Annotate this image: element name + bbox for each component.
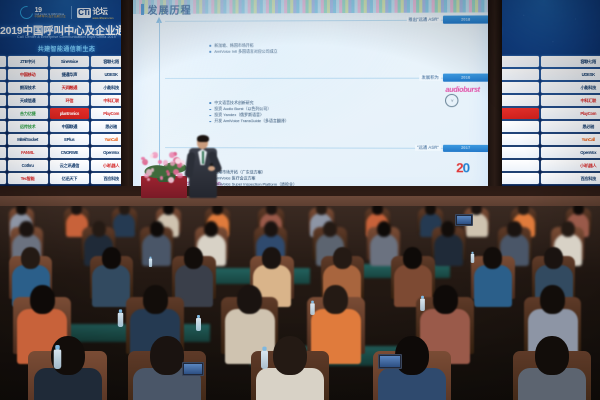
sponsor-logo: 中国移动 — [8, 69, 48, 80]
timeline-bullet: AmiVoice Intl 多国语言对应公司成立 — [209, 48, 432, 55]
sponsor-logo: SineVoice — [50, 56, 90, 67]
sponsor-logo: ZTE中兴 — [8, 56, 48, 67]
audience-member-head — [403, 247, 422, 269]
sponsor-logo: 亿迅天下 — [50, 173, 90, 184]
audience-member-head — [262, 247, 281, 269]
cti-url: www.ctiforum.com — [92, 17, 113, 20]
audience-member-head — [535, 336, 569, 375]
flower-arrangement — [140, 152, 192, 184]
water-bottle — [310, 303, 315, 315]
audience-member-head — [507, 221, 521, 238]
audience-member-head — [150, 336, 184, 375]
slide-title: 发展历程 — [148, 2, 192, 17]
sponsor-logo: Yealink — [0, 134, 6, 145]
timeline-bullet-list: 新加坡、韩国市场开拓AmiVoice Intl 多国语言对应公司成立 — [169, 42, 433, 55]
backdrop-wall-right: 19 Call Center & CRM China 中国呼叫中心及企业通信大会… — [488, 0, 600, 190]
timeline-illustration — [437, 26, 488, 53]
sponsor-logo: 容联七陌 — [541, 56, 600, 67]
audience-member-head — [333, 247, 352, 269]
flower — [160, 176, 163, 179]
audience-member-head — [433, 285, 458, 314]
slide-title-group: 发展历程 — [141, 2, 192, 17]
backdrop-logo-row-left: 19 Call Center & CRM China 中国呼叫中心及企业通信大会… — [0, 3, 133, 22]
timeline-row-body: 新加坡、韩国市场开拓AmiVoice Intl 多国语言对应公司成立 — [165, 24, 488, 73]
backdrop-wall-left: 19 Call Center & CRM China 中国呼叫中心及企业通信大会… — [0, 0, 133, 190]
audience-member-body — [474, 265, 512, 307]
sponsor-logo: PlayCom — [541, 108, 600, 119]
timeline-year-badge: 2018 — [443, 16, 488, 24]
audience-member-head — [323, 285, 348, 314]
sponsor-logo: 中科汇联 — [541, 95, 600, 106]
timeline-bullet: 开发 AmiVoice TransGuide（多语言翻译） — [209, 118, 432, 124]
audience-member-head — [21, 247, 40, 269]
water-bottle — [149, 259, 152, 267]
yandex-logo-icon: Y — [445, 94, 458, 107]
audience-member-head — [143, 285, 168, 314]
timeline-illustration: audioburstY — [437, 84, 488, 111]
sponsor-logo: 小能科技 — [541, 82, 600, 93]
flower — [175, 158, 181, 164]
audience-member-head — [540, 285, 565, 314]
audience-member-head — [237, 285, 262, 314]
timeline-row-header: 推出"远通 ASR"2018 — [165, 15, 488, 24]
sponsor-logo: Rloom 融云 — [0, 82, 6, 93]
audience-member-body — [434, 234, 463, 266]
sponsor-logo: 讯众通信 — [0, 69, 6, 80]
audience-member-body — [92, 265, 130, 307]
timeline-year-badge: 2017 — [443, 144, 488, 152]
sponsor-logo: OpenVox — [541, 147, 600, 158]
logo-divider — [71, 6, 72, 19]
audience-area — [0, 206, 600, 400]
timeline-row-header: 发展积为2016 — [165, 74, 488, 82]
audience-member-head — [561, 221, 575, 238]
flower — [170, 161, 175, 166]
sponsor-logo: FANVIL — [8, 147, 48, 158]
water-bottle — [471, 254, 475, 263]
water-bottle — [118, 313, 124, 327]
audience-member-head — [377, 221, 391, 238]
phone-display — [380, 356, 401, 368]
smartphone-screen — [182, 362, 204, 376]
audience-member-head — [19, 221, 33, 238]
sponsor-logo: Rostar — [0, 160, 6, 171]
sponsor-logo: 中国电信 — [0, 95, 6, 106]
audience-member-head — [483, 247, 502, 269]
timeline-row: 推出"远通 ASR"2018新加坡、韩国市场开拓AmiVoice Intl 多国… — [165, 15, 488, 73]
audience-member-head — [544, 247, 563, 269]
sponsor-logo: EPlus — [50, 134, 90, 145]
timeline-row-body: 中文语音技术创新研究投资 Audio Burst（以色列公司）投资 Yandex… — [165, 82, 488, 143]
timeline-year-badge: 2016 — [443, 74, 488, 82]
sponsor-logo: 环信 — [50, 95, 90, 106]
backdrop-tagline: 共建智能通信新生态 — [488, 44, 600, 53]
timeline-phase-label: 发展积为 — [419, 75, 440, 81]
audience-member-head — [372, 206, 383, 215]
smartphone-screen — [378, 354, 402, 369]
backdrop-tagline: 共建智能通信新生态 — [0, 44, 133, 53]
flower — [151, 168, 155, 172]
sponsor-logo: 小沃科技 — [0, 108, 6, 119]
smartphone-screen — [455, 214, 473, 226]
sponsor-logo-grid-right: 中通天鸿ZTE中兴SineVoice容联七陌讯众通信中国移动捷通华声UDESKR… — [488, 56, 600, 184]
phone-display — [457, 216, 472, 225]
audience-member-head — [150, 221, 164, 238]
cti-name: 论坛 — [92, 6, 113, 17]
timeline-phase-label: "远通 ASR" — [415, 145, 441, 151]
audience-member-body — [142, 234, 171, 266]
audience-member-head — [266, 206, 277, 215]
sponsor-logo: 中通天鸿 — [0, 56, 6, 67]
audience-member-head — [92, 221, 106, 238]
sponsor-logo: plantronics — [50, 108, 90, 119]
anniversary-ring-icon — [17, 3, 35, 21]
audience-member-head — [102, 247, 121, 269]
anniversary-line-cn: 中国呼叫中心及企业通信大会 — [35, 16, 66, 18]
flower — [163, 160, 168, 165]
audience-member-head — [273, 336, 307, 375]
sponsor-logo: Mitel/Socket — [8, 134, 48, 145]
sponsor-logo: 小i机器人 — [541, 160, 600, 171]
sponsor-logo: UDESK — [541, 69, 600, 80]
audience-member-head — [30, 285, 55, 314]
sponsor-logo: 网易七鱼 — [0, 121, 6, 132]
flower — [158, 160, 162, 164]
sponsor-logo: VoiceCyber — [0, 173, 6, 184]
sponsor-logo: 中国联通 — [50, 121, 90, 132]
flower — [147, 178, 150, 181]
backdrop-logo-row-right: 19 Call Center & CRM China 中国呼叫中心及企业通信大会… — [488, 3, 600, 22]
sponsor-logo: 云之讯通信 — [50, 160, 90, 171]
water-bottle — [54, 350, 62, 370]
timeline-phase-label: 推出"远通 ASR" — [406, 17, 441, 23]
flower — [168, 177, 174, 183]
speaker-tie — [202, 151, 205, 164]
sponsor-logo: 合力亿捷 — [8, 108, 48, 119]
sponsor-logo: 天润融通 — [50, 82, 90, 93]
sponsor-logo: 思必驰 — [541, 121, 600, 132]
phone-display — [184, 364, 203, 375]
audience-member-body — [113, 213, 135, 237]
timeline-row: 发展积为2016中文语音技术创新研究投资 Audio Burst（以色列公司）投… — [165, 74, 488, 144]
sponsor-logo: Cothru — [8, 160, 48, 171]
sponsor-logo: 天成信通 — [8, 95, 48, 106]
audioburst-logo: audioburst — [445, 87, 479, 94]
flower — [153, 155, 156, 158]
speaker-hair — [197, 135, 209, 142]
timeline-bullet-list: 中文语音技术创新研究投资 Audio Burst（以色列公司）投资 Yandex… — [169, 100, 433, 125]
sponsor-logo: 远传技术 — [8, 121, 48, 132]
water-bottle — [261, 351, 268, 369]
conference-hall-photo: 19 Call Center & CRM China 中国呼叫中心及企业通信大会… — [0, 0, 600, 400]
anniversary-logo: 19 Call Center & CRM China 中国呼叫中心及企业通信大会 — [20, 6, 66, 19]
audience-member-head — [323, 221, 337, 238]
cti-logo: CTi 论坛 www.ctiforum.com — [77, 6, 114, 20]
sponsor-logo: YunCall — [541, 134, 600, 145]
sponsor-logo: DINSTAR — [0, 147, 6, 158]
speaker-presenter — [186, 136, 220, 198]
sponsor-logo: 百应科技 — [541, 173, 600, 184]
sponsor-logo: 朗深技术 — [8, 82, 48, 93]
slide-title-accent-bar — [141, 4, 144, 15]
anniversary-20-logo: 20 — [456, 160, 469, 175]
sponsor-logo-grid-left: 中通天鸿ZTE中兴SineVoice容联七陌讯众通信中国移动捷通华声UDESKR… — [0, 56, 131, 184]
sponsor-logo: CNORWE — [50, 147, 90, 158]
water-bottle — [196, 318, 201, 331]
flower — [144, 162, 147, 165]
backdrop-title-en: Call Center & Enterprise Communication E… — [0, 35, 133, 39]
audience-member-head — [264, 221, 278, 238]
speaker-hand — [208, 166, 215, 171]
water-bottle — [420, 299, 425, 311]
timeline-illustration: 20 — [437, 154, 488, 181]
wall-gap-right — [486, 0, 502, 196]
flower — [169, 152, 175, 158]
flower — [177, 173, 182, 178]
backdrop-title-en: Call Center & Enterprise Communication E… — [488, 35, 600, 39]
audience-member-head — [184, 247, 203, 269]
sponsor-logo: 捷通华声 — [50, 69, 90, 80]
cti-badge: CTi — [77, 8, 91, 18]
sponsor-logo: Tec智能 — [8, 173, 48, 184]
